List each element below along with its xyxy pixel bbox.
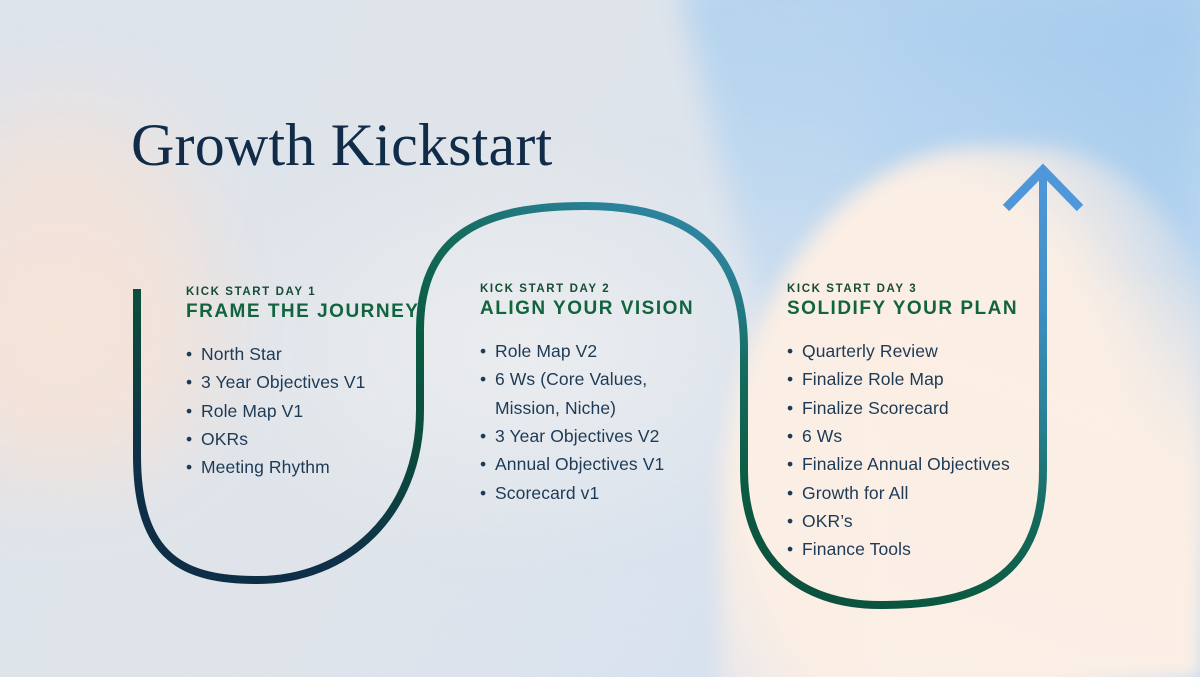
list-item: •OKRs (186, 425, 419, 453)
bullet-icon: • (787, 450, 793, 478)
list-item: •3 Year Objectives V2 (480, 422, 694, 450)
list-item: •OKR’s (787, 507, 1018, 535)
page-title: Growth Kickstart (131, 112, 552, 178)
list-item-label: 6 Ws (Core Values, (495, 369, 647, 389)
bullet-icon: • (480, 422, 486, 450)
day-1-item-list: •North Star •3 Year Objectives V1 •Role … (186, 340, 419, 482)
list-item-continuation: Mission, Niche) (480, 394, 694, 422)
list-item-label: 3 Year Objectives V1 (201, 372, 365, 392)
day-2-headline: ALIGN YOUR VISION (480, 298, 694, 320)
list-item-label: Finalize Role Map (802, 369, 944, 389)
bullet-icon: • (186, 453, 192, 481)
list-item: •Finalize Annual Objectives (787, 450, 1018, 478)
bullet-icon: • (480, 365, 486, 393)
list-item-label: Finance Tools (802, 539, 911, 559)
list-item: •Finance Tools (787, 535, 1018, 563)
list-item-label: Role Map V1 (201, 401, 303, 421)
list-item: •3 Year Objectives V1 (186, 368, 419, 396)
list-item: •Role Map V2 (480, 337, 694, 365)
list-item-label: 3 Year Objectives V2 (495, 426, 659, 446)
list-item: •6 Ws (Core Values, (480, 365, 694, 393)
bullet-icon: • (186, 397, 192, 425)
bullet-icon: • (787, 394, 793, 422)
day-1-eyebrow: KICK START DAY 1 (186, 286, 419, 298)
bullet-icon: • (787, 535, 793, 563)
day-3-headline: SOLIDIFY YOUR PLAN (787, 298, 1018, 320)
day-2-item-list: •Role Map V2 •6 Ws (Core Values, Mission… (480, 337, 694, 507)
bullet-icon: • (186, 340, 192, 368)
day-column-3: KICK START DAY 3 SOLIDIFY YOUR PLAN •Qua… (787, 283, 1018, 564)
list-item-label: Finalize Annual Objectives (802, 454, 1010, 474)
list-item-label: Scorecard v1 (495, 483, 599, 503)
bullet-icon: • (787, 479, 793, 507)
list-item-label: North Star (201, 344, 282, 364)
list-item-label: Mission, Niche) (495, 398, 616, 418)
day-column-1: KICK START DAY 1 FRAME THE JOURNEY •Nort… (186, 286, 419, 482)
bullet-icon: • (480, 450, 486, 478)
list-item-label: OKRs (201, 429, 248, 449)
bullet-icon: • (480, 337, 486, 365)
list-item: •North Star (186, 340, 419, 368)
list-item: •Meeting Rhythm (186, 453, 419, 481)
day-1-headline: FRAME THE JOURNEY (186, 301, 419, 323)
day-column-2: KICK START DAY 2 ALIGN YOUR VISION •Role… (480, 283, 694, 507)
day-3-eyebrow: KICK START DAY 3 (787, 283, 1018, 295)
bullet-icon: • (480, 479, 486, 507)
list-item-label: 6 Ws (802, 426, 842, 446)
list-item-label: Annual Objectives V1 (495, 454, 664, 474)
bullet-icon: • (186, 425, 192, 453)
list-item: •Annual Objectives V1 (480, 450, 694, 478)
list-item: •Growth for All (787, 479, 1018, 507)
bullet-icon: • (787, 507, 793, 535)
list-item-label: Growth for All (802, 483, 908, 503)
day-3-item-list: •Quarterly Review •Finalize Role Map •Fi… (787, 337, 1018, 564)
list-item: •Finalize Role Map (787, 365, 1018, 393)
list-item: •Scorecard v1 (480, 479, 694, 507)
list-item-label: OKR’s (802, 511, 853, 531)
slide-canvas: Growth Kickstart KICK START DAY 1 FRAME … (0, 0, 1200, 677)
list-item: •Role Map V1 (186, 397, 419, 425)
list-item-label: Role Map V2 (495, 341, 597, 361)
list-item-label: Finalize Scorecard (802, 398, 949, 418)
bullet-icon: • (787, 365, 793, 393)
list-item: •6 Ws (787, 422, 1018, 450)
bullet-icon: • (787, 337, 793, 365)
bullet-icon: • (186, 368, 192, 396)
list-item-label: Meeting Rhythm (201, 457, 330, 477)
day-2-eyebrow: KICK START DAY 2 (480, 283, 694, 295)
list-item: •Finalize Scorecard (787, 394, 1018, 422)
list-item: •Quarterly Review (787, 337, 1018, 365)
list-item-label: Quarterly Review (802, 341, 938, 361)
bullet-icon: • (787, 422, 793, 450)
